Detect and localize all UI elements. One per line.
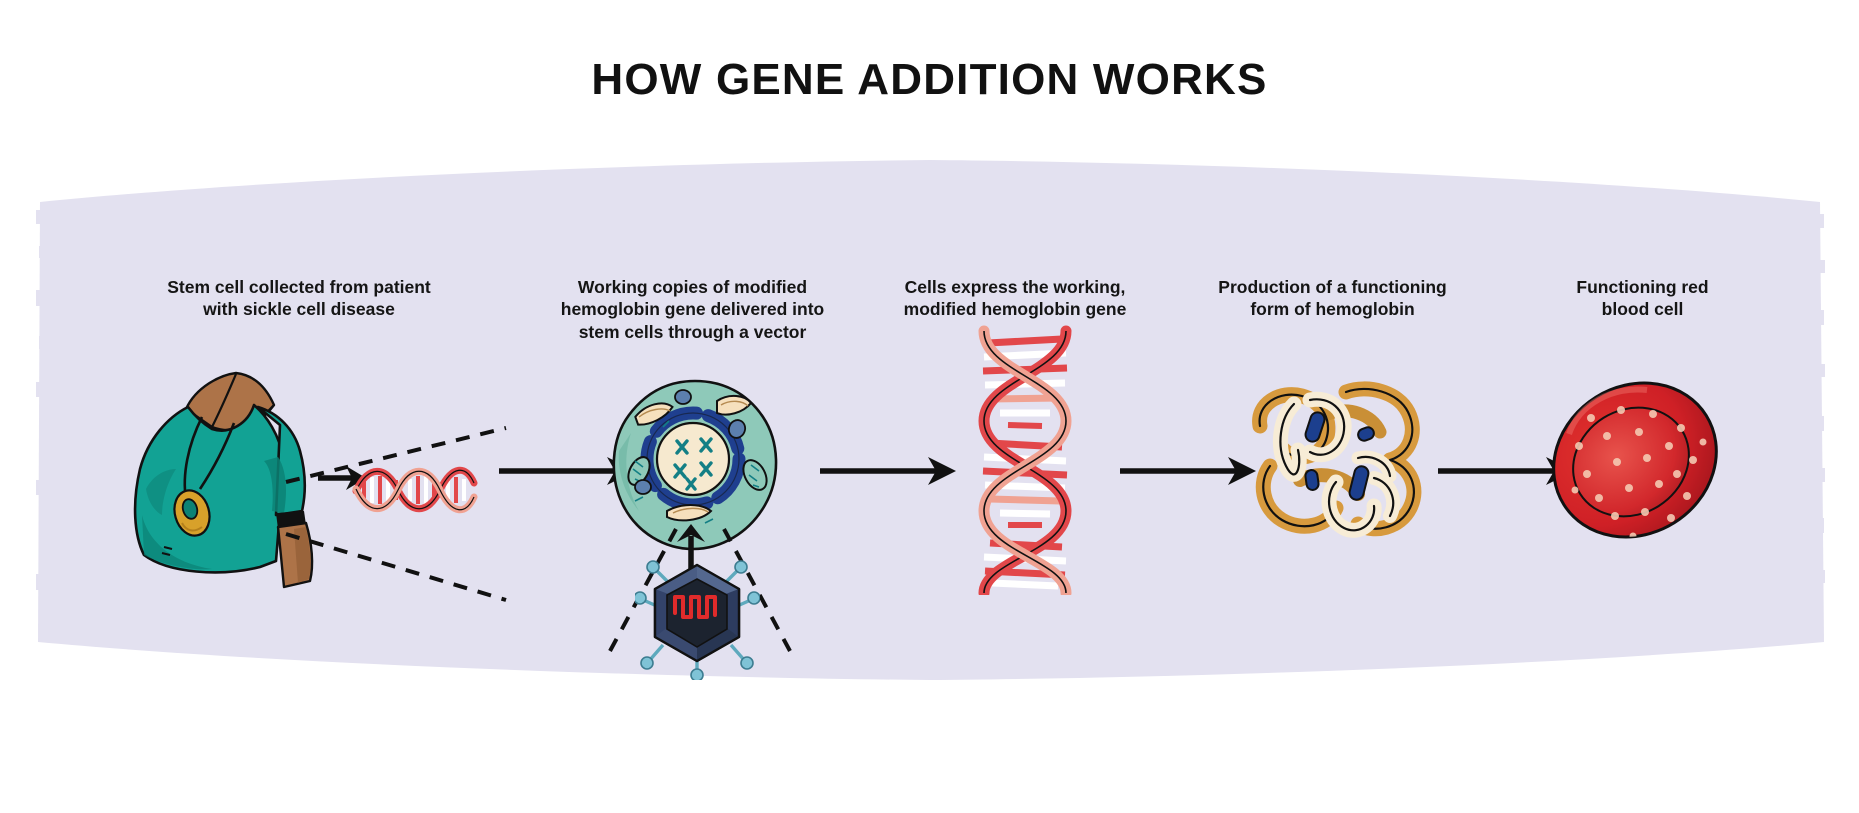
step-5-caption: Functioning red blood cell	[1505, 276, 1780, 321]
red-blood-cell-illustration	[1535, 370, 1735, 550]
step-4-caption: Production of a functioning form of hemo…	[1185, 276, 1480, 321]
red-blood-cell-icon	[1535, 370, 1735, 550]
step-1-caption-line-2: with sickle cell disease	[104, 298, 494, 320]
virus-capsid-icon	[635, 555, 760, 680]
viral-vector-illustration	[635, 555, 760, 680]
dna-vertical-icon	[950, 325, 1100, 595]
step-4-caption-line-1: Production of a functioning	[1185, 276, 1480, 298]
step-3-caption: Cells express the working, modified hemo…	[865, 276, 1165, 321]
dna-helix-large-illustration	[950, 325, 1100, 595]
step-5-caption-line-2: blood cell	[1505, 298, 1780, 320]
step-1-caption-line-1: Stem cell collected from patient	[104, 276, 494, 298]
step-4-caption-line-2: form of hemoglobin	[1185, 298, 1480, 320]
infographic-root: HOW GENE ADDITION WORKS Stem cell collec…	[0, 0, 1859, 813]
step-2-caption-line-2: hemoglobin gene delivered into	[505, 298, 880, 320]
steps-container: Stem cell collected from patient with si…	[0, 150, 1859, 690]
dna-helix-small-illustration	[348, 445, 478, 535]
step-2-caption: Working copies of modified hemoglobin ge…	[505, 276, 880, 343]
arrow-step3-to-step4	[1118, 450, 1258, 492]
arrow-right-icon	[1118, 450, 1258, 492]
step-2-caption-line-3: stem cells through a vector	[505, 321, 880, 343]
arrow-step2-to-step3	[818, 450, 958, 492]
page-title: HOW GENE ADDITION WORKS	[0, 58, 1859, 102]
dna-horizontal-icon	[348, 445, 478, 535]
step-1-caption: Stem cell collected from patient with si…	[104, 276, 494, 321]
hemoglobin-protein-icon	[1240, 370, 1435, 545]
step-2-caption-line-1: Working copies of modified	[505, 276, 880, 298]
hemoglobin-illustration	[1240, 370, 1435, 545]
step-3-caption-line-2: modified hemoglobin gene	[865, 298, 1165, 320]
arrow-right-icon	[818, 450, 958, 492]
step-3-caption-line-1: Cells express the working,	[865, 276, 1165, 298]
step-5-caption-line-1: Functioning red	[1505, 276, 1780, 298]
